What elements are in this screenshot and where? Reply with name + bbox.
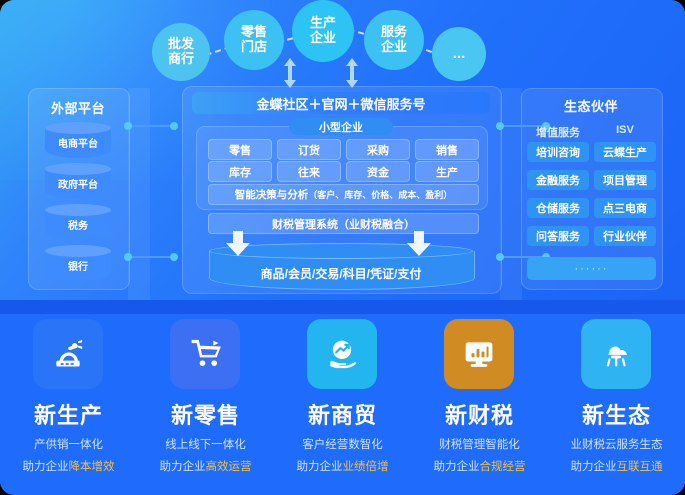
connector-dot <box>170 253 178 261</box>
tile-new-finance-tax[interactable] <box>444 319 514 389</box>
card-line2: 助力企业互联互通 <box>548 458 685 474</box>
feature-card-new-retail[interactable]: 新零售 线上线下一体化 助力企业高效运营 <box>137 314 274 495</box>
feature-card-new-finance-tax[interactable]: 新财税 财税管理智能化 助力企业合规经营 <box>411 314 548 495</box>
partners-more-bar[interactable]: ······ <box>527 257 656 280</box>
infographic-page: 批发 商行 零售 门店 生产 企业 服务 企业 ... 外部平台 电 <box>0 0 685 495</box>
trend-hand-icon <box>322 334 362 374</box>
small-enterprise-badge[interactable]: 小型企业 <box>289 118 393 135</box>
node-label: 生产 <box>310 16 336 31</box>
card-line2-plain: 助力企业 <box>297 461 343 473</box>
column-header-isv: ISV <box>594 124 656 136</box>
community-header-bar[interactable]: 金蝶社区＋官网＋微信服务号 <box>192 92 490 114</box>
node-wholesale[interactable]: 批发 商行 <box>152 23 210 81</box>
card-line1: 业财税云服务生态 <box>548 436 685 452</box>
bottom-section: 新生产 产供销一体化 助力企业降本增效 新零售 线上线下一体化 <box>0 314 685 495</box>
smart-analysis-sub: （客户、库存、价格、成本、盈利） <box>308 188 452 201</box>
connector-line <box>128 125 174 127</box>
partner-qa-service[interactable]: 问答服务 <box>527 226 589 246</box>
external-platform-government[interactable]: 政府平台 <box>45 163 111 203</box>
section-divider <box>0 300 685 314</box>
down-arrow-icon <box>406 231 432 257</box>
card-line2-plain: 助力企业 <box>571 461 617 473</box>
feature-card-new-ecosystem[interactable]: 新生态 业财税云服务生态 助力企业互联互通 <box>548 314 685 495</box>
module-production[interactable]: 生产 <box>415 161 479 182</box>
card-line2-highlight: 互联互通 <box>617 461 663 473</box>
card-line2-plain: 助力企业 <box>160 461 206 473</box>
shopping-cart-icon <box>185 334 225 374</box>
module-sales[interactable]: 销售 <box>415 139 479 160</box>
external-platform-ecommerce[interactable]: 电商平台 <box>45 122 111 162</box>
node-label: 企业 <box>381 40 407 55</box>
module-purchasing[interactable]: 采购 <box>346 139 410 160</box>
card-line2-plain: 助力企业 <box>434 461 480 473</box>
tile-new-commerce[interactable] <box>307 319 377 389</box>
module-inventory[interactable]: 库存 <box>208 161 272 182</box>
node-label: 服务 <box>381 25 407 40</box>
cylinder-label: 电商平台 <box>45 122 111 162</box>
tile-new-retail[interactable] <box>170 319 240 389</box>
cylinder-label: 政府平台 <box>45 163 111 203</box>
right-panel-title: 生态伙伴 <box>521 96 661 115</box>
module-retail[interactable]: 零售 <box>208 139 272 160</box>
card-line2-highlight: 合规经营 <box>480 461 526 473</box>
node-more[interactable]: ... <box>432 27 486 81</box>
isv-project-management[interactable]: 项目管理 <box>594 170 656 190</box>
card-title: 新商贸 <box>274 398 411 430</box>
card-line2: 助力企业高效运营 <box>137 458 274 474</box>
monitor-chart-icon <box>459 334 499 374</box>
connector-dot <box>124 253 132 261</box>
card-line1: 财税管理智能化 <box>411 436 548 452</box>
external-platform-bank[interactable]: 银行 <box>45 245 111 285</box>
card-line2-plain: 助力企业 <box>23 461 69 473</box>
isv-dian-san-ecommerce[interactable]: 点三电商 <box>594 198 656 218</box>
card-line2-highlight: 高效运营 <box>206 461 252 473</box>
card-line1: 客户经营数智化 <box>274 436 411 452</box>
cloud-network-icon <box>596 334 636 374</box>
node-label: ... <box>453 46 466 63</box>
module-transactions[interactable]: 往来 <box>277 161 341 182</box>
card-title: 新财税 <box>411 398 548 430</box>
cylinder-label: 银行 <box>45 245 111 285</box>
bidirectional-arrow-icon <box>283 58 297 88</box>
node-label: 商行 <box>168 52 194 67</box>
card-line2: 助力企业合规经营 <box>411 458 548 474</box>
node-manufacturing[interactable]: 生产 企业 <box>292 0 354 62</box>
connector-dot <box>496 253 504 261</box>
connector-dot <box>170 122 178 130</box>
module-ordering[interactable]: 订货 <box>277 139 341 160</box>
connector-dot <box>124 122 132 130</box>
robot-arm-icon <box>48 334 88 374</box>
node-label: 门店 <box>241 40 267 55</box>
smart-analysis-main: 智能决策与分析 <box>235 187 309 202</box>
down-arrow-icon <box>225 231 251 257</box>
card-line1: 产供销一体化 <box>0 436 137 452</box>
card-line2: 助力企业业绩倍增 <box>274 458 411 474</box>
isv-industry-partner[interactable]: 行业伙伴 <box>594 226 656 246</box>
connector-left-top <box>124 122 178 130</box>
partner-training-consulting[interactable]: 培训咨询 <box>527 142 589 162</box>
column-header-value-added: 增值服务 <box>527 124 589 140</box>
connector-left-bottom <box>124 253 178 261</box>
isv-yundie-production[interactable]: 云蝶生产 <box>594 142 656 162</box>
tile-new-production[interactable] <box>33 319 103 389</box>
card-line2-highlight: 业绩倍增 <box>343 461 389 473</box>
node-service[interactable]: 服务 企业 <box>364 10 424 70</box>
partner-financial-service[interactable]: 金融服务 <box>527 170 589 190</box>
band-left <box>128 88 150 303</box>
card-title: 新生产 <box>0 398 137 430</box>
node-label: 零售 <box>241 25 267 40</box>
node-label: 企业 <box>310 31 336 46</box>
smart-analysis-bar[interactable]: 智能决策与分析 （客户、库存、价格、成本、盈利） <box>208 184 479 205</box>
card-title: 新零售 <box>137 398 274 430</box>
partner-warehousing-service[interactable]: 仓储服务 <box>527 198 589 218</box>
card-line2-highlight: 降本增效 <box>69 461 115 473</box>
card-title: 新生态 <box>548 398 685 430</box>
connector-dot <box>496 122 504 130</box>
node-label: 批发 <box>168 37 194 52</box>
feature-card-new-commerce[interactable]: 新商贸 客户经营数智化 助力企业业绩倍增 <box>274 314 411 495</box>
connector-line <box>128 256 174 258</box>
node-retail-store[interactable]: 零售 门店 <box>224 10 284 70</box>
tile-new-ecosystem[interactable] <box>581 319 651 389</box>
card-line1: 线上线下一体化 <box>137 436 274 452</box>
left-panel-title: 外部平台 <box>28 98 128 117</box>
module-funds[interactable]: 资金 <box>346 161 410 182</box>
band-right <box>500 88 522 303</box>
bidirectional-arrow-icon <box>345 58 359 88</box>
cylinder-label: 税务 <box>45 204 111 244</box>
external-platform-tax[interactable]: 税务 <box>45 204 111 244</box>
card-line2: 助力企业降本增效 <box>0 458 137 474</box>
feature-card-new-production[interactable]: 新生产 产供销一体化 助力企业降本增效 <box>0 314 137 495</box>
